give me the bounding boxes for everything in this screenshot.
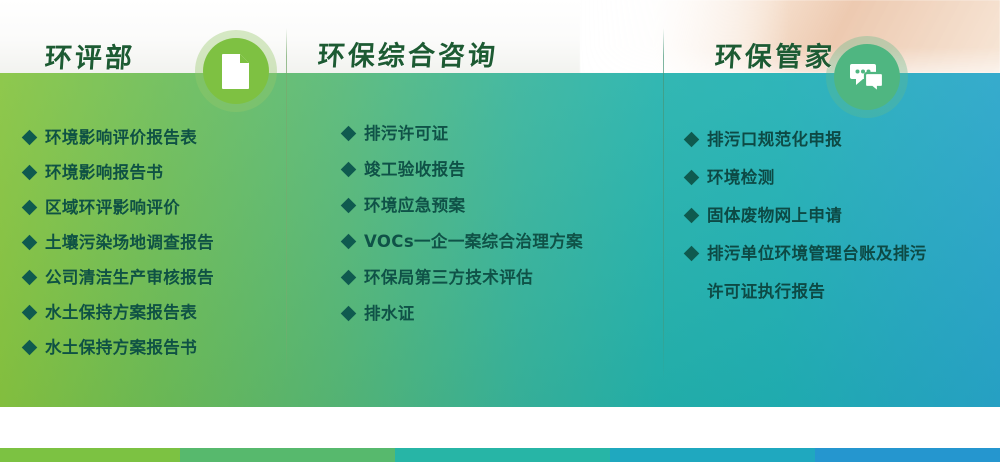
- list-item[interactable]: 水土保持方案报告书: [24, 336, 282, 359]
- list-item[interactable]: 水土保持方案报告表: [24, 301, 282, 324]
- list-item-label: 许可证执行报告: [707, 280, 825, 303]
- strip-segment-3: [395, 448, 610, 462]
- column-huanbao-guanjia: 环保管家 排污口规范化申报 环境检测 固体废物网上申: [663, 0, 1000, 462]
- column-huanbao-zonghe-zixun: 环保综合咨询 排污许可证 竣工验收报告 环境应急预案: [286, 0, 663, 462]
- column-2-title: 环保综合咨询: [317, 34, 500, 73]
- list-item[interactable]: 公司清洁生产审核报告: [24, 266, 282, 289]
- list-item[interactable]: 环境应急预案: [343, 194, 663, 217]
- list-item-label: 公司清洁生产审核报告: [45, 266, 214, 289]
- document-icon: [203, 38, 269, 104]
- diamond-bullet-icon: [341, 270, 357, 286]
- diamond-bullet-icon: [341, 198, 357, 214]
- list-item[interactable]: 土壤污染场地调查报告: [24, 231, 282, 254]
- list-item[interactable]: 区域环评影响评价: [24, 196, 282, 219]
- list-item[interactable]: 固体废物网上申请: [686, 204, 996, 227]
- diamond-bullet-icon: [341, 306, 357, 322]
- list-item[interactable]: 排污单位环境管理台账及排污: [686, 242, 996, 265]
- list-item-label: 水土保持方案报告书: [45, 336, 197, 359]
- list-item[interactable]: 竣工验收报告: [343, 158, 663, 181]
- list-item-label: 环境影响报告书: [45, 161, 163, 184]
- list-item-label: 排污单位环境管理台账及排污: [707, 242, 927, 265]
- diamond-bullet-icon: [22, 235, 38, 251]
- list-item[interactable]: 排水证: [343, 302, 663, 325]
- list-item[interactable]: 环境检测: [686, 166, 996, 189]
- list-item[interactable]: 环境影响评价报告表: [24, 126, 282, 149]
- list-item-label: 固体废物网上申请: [707, 204, 842, 227]
- bottom-color-strip: [0, 448, 1000, 462]
- diamond-bullet-icon: [22, 130, 38, 146]
- list-item-label: 环保局第三方技术评估: [364, 266, 533, 289]
- diamond-bullet-icon: [22, 305, 38, 321]
- column-1-title: 环评部: [44, 36, 137, 75]
- list-item-label: VOCs一企一案综合治理方案: [364, 230, 583, 253]
- diamond-bullet-icon: [341, 234, 357, 250]
- list-item-label: 排污许可证: [364, 122, 449, 145]
- diamond-bullet-icon: [22, 165, 38, 181]
- diamond-bullet-icon: [22, 270, 38, 286]
- bottom-white-gap: [0, 407, 1000, 448]
- list-item-continuation[interactable]: 许可证执行报告: [707, 280, 996, 303]
- poster-canvas: 环评部 环境影响评价报告表 环境影响报告书 区域环评影响评价: [0, 0, 1000, 462]
- column-huanpingbu: 环评部 环境影响评价报告表 环境影响报告书 区域环评影响评价: [0, 0, 286, 462]
- list-item-label: 环境影响评价报告表: [45, 126, 197, 149]
- diamond-bullet-icon: [684, 246, 700, 262]
- strip-segment-5: [815, 448, 1000, 462]
- list-item[interactable]: 环境影响报告书: [24, 161, 282, 184]
- list-item[interactable]: 排污许可证: [343, 122, 663, 145]
- diamond-bullet-icon: [341, 126, 357, 142]
- diamond-bullet-icon: [684, 170, 700, 186]
- column-3-list: 排污口规范化申报 环境检测 固体废物网上申请 排污单位环境管理台账及排污 许可证…: [686, 128, 996, 318]
- diamond-bullet-icon: [341, 162, 357, 178]
- diamond-bullet-icon: [684, 208, 700, 224]
- diamond-bullet-icon: [684, 132, 700, 148]
- list-item-label: 竣工验收报告: [364, 158, 465, 181]
- list-item-label: 土壤污染场地调查报告: [45, 231, 214, 254]
- column-2-list: 排污许可证 竣工验收报告 环境应急预案 VOCs一企一案综合治理方案 环保局第三…: [343, 122, 663, 338]
- list-item-label: 排水证: [364, 302, 415, 325]
- list-item-label: 区域环评影响评价: [45, 196, 180, 219]
- diamond-bullet-icon: [22, 200, 38, 216]
- diamond-bullet-icon: [22, 340, 38, 356]
- list-item[interactable]: VOCs一企一案综合治理方案: [343, 230, 663, 253]
- list-item-label: 水土保持方案报告表: [45, 301, 197, 324]
- column-3-title: 环保管家: [714, 35, 837, 74]
- list-item-label: 环境检测: [707, 166, 775, 189]
- list-item-label: 环境应急预案: [364, 194, 465, 217]
- strip-segment-2: [180, 448, 395, 462]
- strip-segment-1: [0, 448, 180, 462]
- strip-segment-4: [610, 448, 815, 462]
- column-1-list: 环境影响评价报告表 环境影响报告书 区域环评影响评价 土壤污染场地调查报告 公司…: [24, 126, 282, 371]
- list-item[interactable]: 环保局第三方技术评估: [343, 266, 663, 289]
- list-item-label: 排污口规范化申报: [707, 128, 842, 151]
- list-item[interactable]: 排污口规范化申报: [686, 128, 996, 151]
